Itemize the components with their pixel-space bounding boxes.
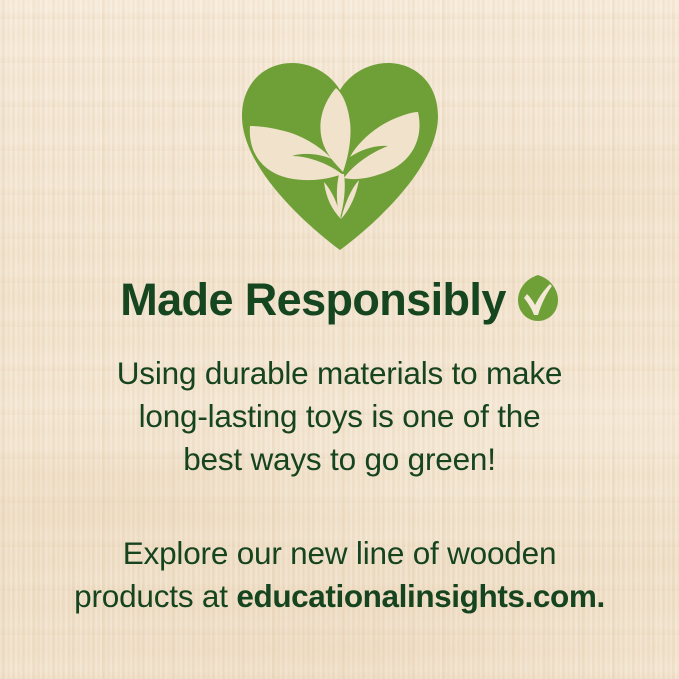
paragraph-explore-line: Explore our new line of wooden products … <box>0 532 679 618</box>
page-title: Made Responsibly <box>120 277 506 322</box>
text-prefix: products at <box>74 578 236 614</box>
text-line-with-domain: products at educationalinsights.com. <box>0 575 679 618</box>
leaf-icon <box>517 274 559 327</box>
text-line: Using durable materials to make <box>0 352 679 395</box>
paragraph-durable-materials: Using durable materials to make long-las… <box>0 352 679 481</box>
text-line: long-lasting toys is one of the <box>0 395 679 438</box>
heart-with-sprout-icon <box>0 60 679 252</box>
headline-row: Made Responsibly <box>0 272 679 327</box>
body-copy: Using durable materials to make long-las… <box>0 352 679 618</box>
text-line: best ways to go green! <box>0 438 679 481</box>
made-responsibly-poster: Made Responsibly Using durable materials… <box>0 0 679 679</box>
website-domain-link[interactable]: educationalinsights.com. <box>236 578 604 614</box>
text-line: Explore our new line of wooden <box>0 532 679 575</box>
